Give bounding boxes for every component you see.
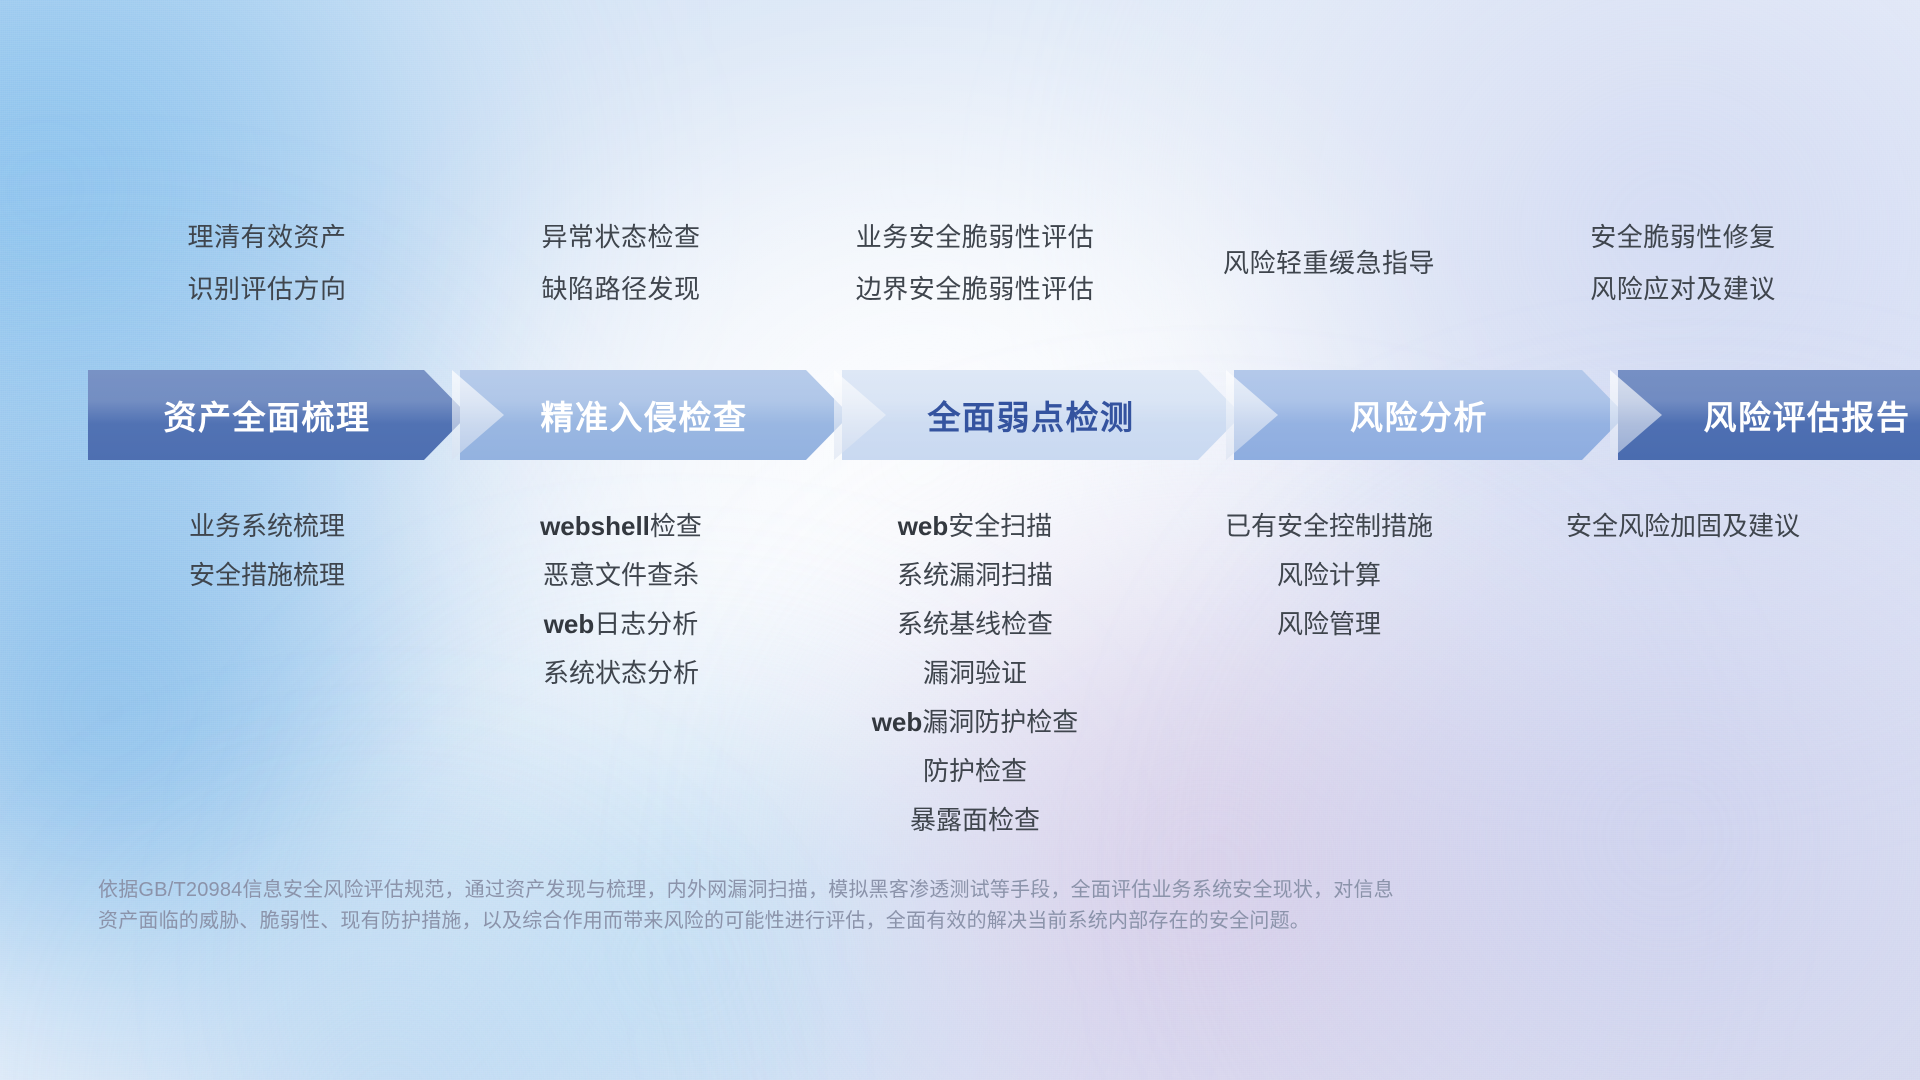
bottom-item-keyword: webshell: [540, 511, 650, 541]
bottom-item: 安全措施梳理: [90, 562, 444, 588]
bottom-item: 防护检查: [798, 758, 1152, 784]
stage-arrow-5[interactable]: 风险评估报告: [1618, 370, 1920, 460]
stage-arrow-label: 风险分析: [1350, 391, 1510, 439]
bottom-item: 系统状态分析: [444, 660, 798, 686]
bottom-item: 已有安全控制措施: [1152, 513, 1506, 539]
bottom-item: 风险管理: [1152, 611, 1506, 637]
bottom-items-row: 业务系统梳理安全措施梳理 webshell检查恶意文件查杀web日志分析系统状态…: [90, 513, 1860, 856]
stage-arrow-3[interactable]: 全面弱点检测: [842, 370, 1242, 460]
process-diagram: 理清有效资产 识别评估方向 异常状态检查 缺陷路径发现 业务安全脆弱性评估 边界…: [0, 0, 1920, 1080]
top-note: 安全脆弱性修复: [1506, 224, 1860, 250]
top-note: 风险轻重缓急指导: [1152, 250, 1506, 276]
bottom-item: 恶意文件查杀: [444, 562, 798, 588]
bottom-item: web安全扫描: [798, 513, 1152, 539]
top-notes-column-2: 异常状态检查 缺陷路径发现: [444, 224, 798, 328]
footer-description: 依据GB/T20984信息安全风险评估规范，通过资产发现与梳理，内外网漏洞扫描，…: [98, 875, 1618, 937]
bottom-items-column-5: 安全风险加固及建议: [1506, 513, 1860, 856]
top-notes-column-4: 风险轻重缓急指导: [1152, 224, 1506, 328]
top-note: 缺陷路径发现: [444, 276, 798, 302]
stage-arrow-label: 全面弱点检测: [928, 391, 1157, 439]
bottom-item: 暴露面检查: [798, 807, 1152, 833]
bottom-item: web漏洞防护检查: [798, 709, 1152, 735]
bottom-item: 系统漏洞扫描: [798, 562, 1152, 588]
bottom-items-column-1: 业务系统梳理安全措施梳理: [90, 513, 444, 856]
bottom-item: web日志分析: [444, 611, 798, 637]
stage-arrow-2[interactable]: 精准入侵检查: [460, 370, 850, 460]
bottom-item-keyword: web: [872, 707, 923, 737]
top-note: 理清有效资产: [90, 224, 444, 250]
top-note: 风险应对及建议: [1506, 276, 1860, 302]
bottom-item: webshell检查: [444, 513, 798, 539]
footer-line: 资产面临的威胁、脆弱性、现有防护措施，以及综合作用而带来风险的可能性进行评估，全…: [98, 906, 1618, 937]
stage-arrow-label: 精准入侵检查: [541, 391, 770, 439]
bottom-items-column-4: 已有安全控制措施风险计算风险管理: [1152, 513, 1506, 856]
bottom-item-keyword: web: [544, 609, 595, 639]
stage-arrow-label: 资产全面梳理: [164, 391, 393, 439]
stage-arrow-1[interactable]: 资产全面梳理: [88, 370, 468, 460]
top-notes-column-3: 业务安全脆弱性评估 边界安全脆弱性评估: [798, 224, 1152, 328]
top-note: 异常状态检查: [444, 224, 798, 250]
top-note: 边界安全脆弱性评估: [798, 276, 1152, 302]
top-notes-column-5: 安全脆弱性修复 风险应对及建议: [1506, 224, 1860, 328]
bottom-items-column-2: webshell检查恶意文件查杀web日志分析系统状态分析: [444, 513, 798, 856]
bottom-item: 安全风险加固及建议: [1506, 513, 1860, 539]
top-notes-row: 理清有效资产 识别评估方向 异常状态检查 缺陷路径发现 业务安全脆弱性评估 边界…: [90, 224, 1860, 328]
stage-arrow-4[interactable]: 风险分析: [1234, 370, 1626, 460]
top-note: 识别评估方向: [90, 276, 444, 302]
top-notes-column-1: 理清有效资产 识别评估方向: [90, 224, 444, 328]
bottom-items-column-3: web安全扫描系统漏洞扫描系统基线检查漏洞验证web漏洞防护检查防护检查暴露面检…: [798, 513, 1152, 856]
top-note: 业务安全脆弱性评估: [798, 224, 1152, 250]
bottom-item: 系统基线检查: [798, 611, 1152, 637]
bottom-item: 风险计算: [1152, 562, 1506, 588]
bottom-item: 业务系统梳理: [90, 513, 444, 539]
footer-line: 依据GB/T20984信息安全风险评估规范，通过资产发现与梳理，内外网漏洞扫描，…: [98, 875, 1618, 906]
stage-arrow-band: 资产全面梳理 精准入侵检查 全面弱点检测 风险分析 风险评估报告: [88, 370, 1848, 460]
bottom-item-keyword: web: [898, 511, 949, 541]
stage-arrow-label: 风险评估报告: [1704, 391, 1920, 439]
bottom-item: 漏洞验证: [798, 660, 1152, 686]
